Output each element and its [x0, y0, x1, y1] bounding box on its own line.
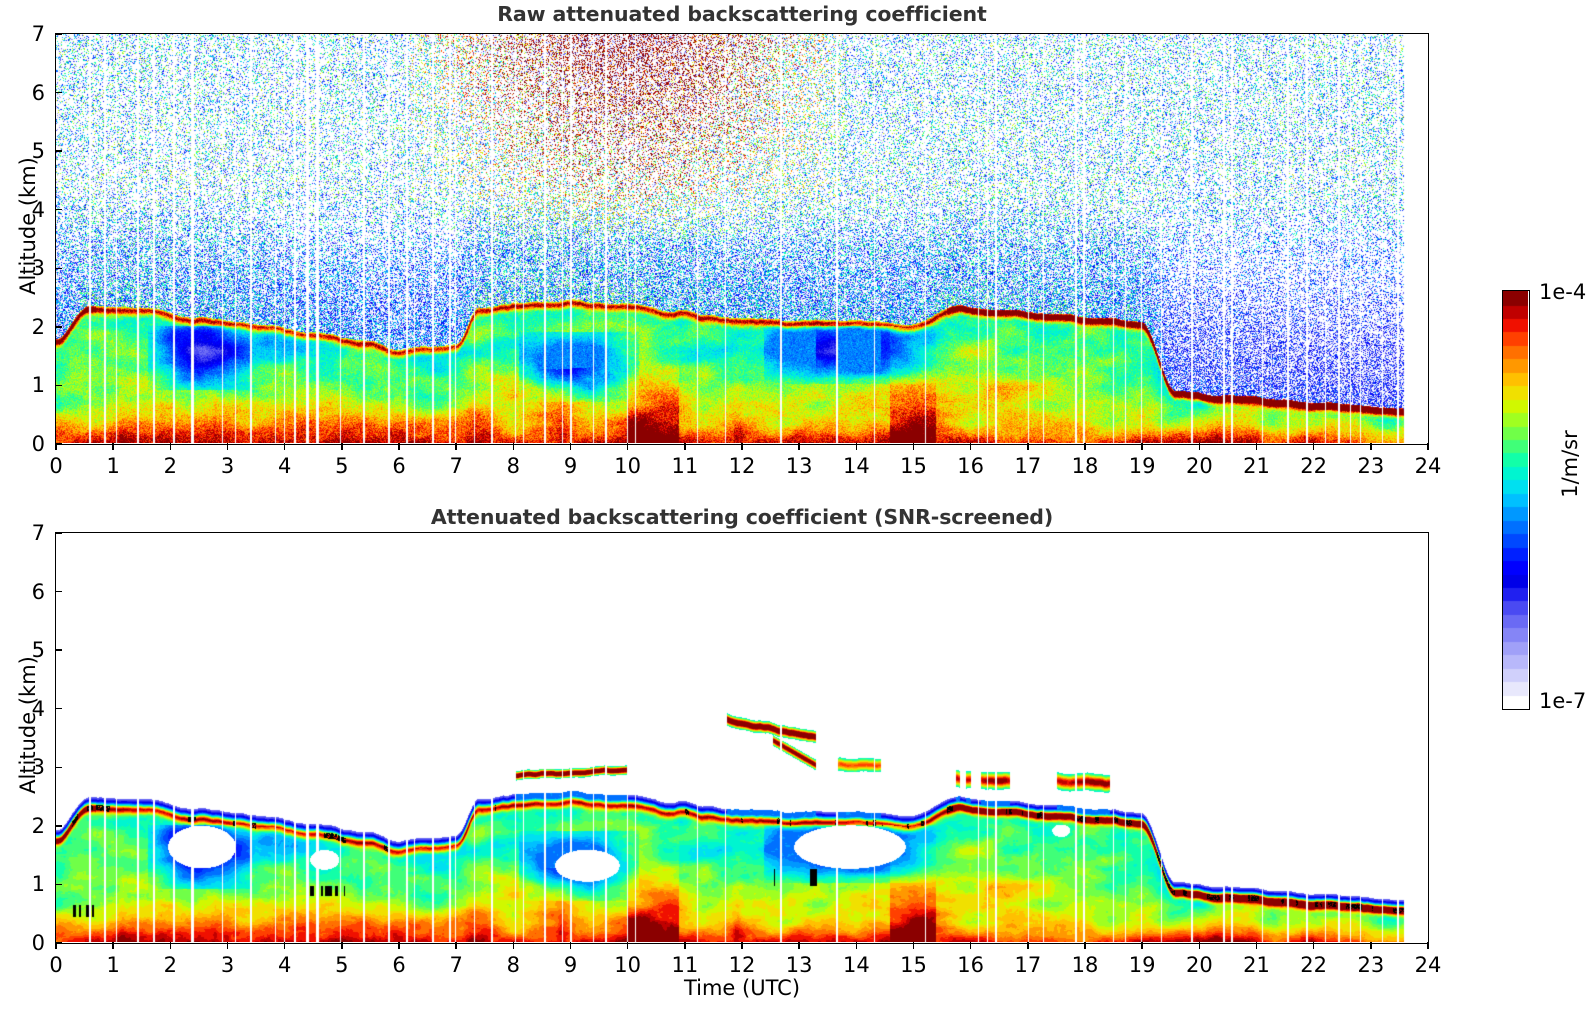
- y-tick: [55, 443, 62, 445]
- x-tick: [284, 942, 286, 949]
- x-tick: [1256, 942, 1258, 949]
- x-tick-label: 14: [843, 454, 870, 478]
- y-tick-label: 6: [13, 580, 45, 604]
- x-tick-label: 6: [392, 953, 405, 977]
- x-tick-label: 24: [1415, 454, 1442, 478]
- x-tick: [856, 443, 858, 450]
- x-tick-label: 0: [49, 953, 62, 977]
- x-tick: [913, 443, 915, 450]
- plot-area-raw: [55, 33, 1429, 445]
- x-tick: [1199, 443, 1201, 450]
- x-tick: [341, 942, 343, 949]
- x-tick-label: 18: [1072, 454, 1099, 478]
- x-tick: [1427, 443, 1429, 450]
- y-tick-label: 1: [13, 373, 45, 397]
- y-tick-label: 2: [13, 814, 45, 838]
- x-tick-label: 20: [1186, 454, 1213, 478]
- y-tick: [55, 884, 62, 886]
- x-tick: [913, 942, 915, 949]
- x-tick-label: 10: [614, 953, 641, 977]
- x-tick-label: 0: [49, 454, 62, 478]
- x-tick: [170, 443, 172, 450]
- x-tick: [741, 942, 743, 949]
- plot-area-screened: [55, 532, 1429, 944]
- x-tick: [513, 443, 515, 450]
- x-tick: [1370, 942, 1372, 949]
- x-tick-label: 16: [957, 953, 984, 977]
- x-tick-label: 12: [729, 454, 756, 478]
- y-tick: [55, 385, 62, 387]
- x-tick-label: 23: [1357, 454, 1384, 478]
- colorbar-canvas: [1503, 291, 1528, 708]
- x-axis-label: Time (UTC): [55, 976, 1429, 1000]
- x-tick-label: 14: [843, 953, 870, 977]
- x-tick: [1027, 443, 1029, 450]
- x-tick-label: 2: [164, 953, 177, 977]
- x-tick: [684, 942, 686, 949]
- colorbar-gradient: [1502, 290, 1530, 710]
- y-tick: [55, 942, 62, 944]
- x-tick-label: 3: [221, 953, 234, 977]
- y-tick: [55, 708, 62, 710]
- x-tick-label: 11: [671, 953, 698, 977]
- heatmap-screened: [56, 533, 1427, 942]
- x-tick-label: 4: [278, 953, 291, 977]
- y-tick: [55, 532, 62, 534]
- x-tick-label: 2: [164, 454, 177, 478]
- x-tick: [684, 443, 686, 450]
- x-tick: [227, 443, 229, 450]
- x-tick: [1027, 942, 1029, 949]
- x-tick: [1370, 443, 1372, 450]
- y-tick: [55, 326, 62, 328]
- x-tick-label: 1: [106, 454, 119, 478]
- x-tick-label: 20: [1186, 953, 1213, 977]
- x-tick-label: 15: [900, 454, 927, 478]
- x-tick: [1313, 443, 1315, 450]
- panel-title-screened: Attenuated backscattering coefficient (S…: [55, 505, 1429, 529]
- y-tick: [55, 150, 62, 152]
- x-tick: [455, 942, 457, 949]
- x-tick-label: 7: [449, 953, 462, 977]
- x-tick-label: 4: [278, 454, 291, 478]
- colorbar-unit-label: 1/m/sr: [1558, 384, 1582, 544]
- colorbar-max-label: 1e-4: [1539, 280, 1586, 304]
- x-tick-label: 21: [1243, 454, 1270, 478]
- x-tick: [112, 443, 114, 450]
- x-tick-label: 22: [1300, 953, 1327, 977]
- x-tick: [570, 443, 572, 450]
- x-tick: [1256, 443, 1258, 450]
- colorbar-min-label: 1e-7: [1539, 689, 1586, 713]
- x-tick: [570, 942, 572, 949]
- x-tick: [741, 443, 743, 450]
- x-tick: [341, 443, 343, 450]
- x-tick-label: 12: [729, 953, 756, 977]
- x-tick: [798, 443, 800, 450]
- heatmap-raw: [56, 34, 1427, 443]
- x-tick-label: 22: [1300, 454, 1327, 478]
- x-tick-label: 10: [614, 454, 641, 478]
- x-tick: [1141, 443, 1143, 450]
- y-axis-label-raw: Altitude (km): [16, 146, 40, 306]
- x-tick: [1313, 942, 1315, 949]
- y-tick: [55, 209, 62, 211]
- x-tick-label: 8: [507, 454, 520, 478]
- y-tick-label: 1: [13, 872, 45, 896]
- x-tick: [1199, 942, 1201, 949]
- y-tick-label: 0: [13, 432, 45, 456]
- x-tick-label: 11: [671, 454, 698, 478]
- x-tick: [398, 443, 400, 450]
- x-tick-label: 19: [1129, 953, 1156, 977]
- x-tick: [227, 942, 229, 949]
- y-tick: [55, 649, 62, 651]
- x-tick-label: 6: [392, 454, 405, 478]
- x-tick-label: 9: [564, 454, 577, 478]
- y-tick: [55, 33, 62, 35]
- x-tick: [627, 443, 629, 450]
- panel-title-raw: Raw attenuated backscattering coefficien…: [55, 2, 1429, 26]
- x-tick-label: 7: [449, 454, 462, 478]
- x-tick-label: 17: [1014, 454, 1041, 478]
- figure-canvas: Raw attenuated backscattering coefficien…: [0, 0, 1595, 1020]
- x-tick: [970, 443, 972, 450]
- x-tick-label: 13: [786, 953, 813, 977]
- y-tick-label: 0: [13, 931, 45, 955]
- x-tick: [455, 443, 457, 450]
- x-tick-label: 5: [335, 953, 348, 977]
- x-tick-label: 17: [1014, 953, 1041, 977]
- colorbar: [1502, 290, 1530, 710]
- y-tick-label: 7: [13, 22, 45, 46]
- x-tick-label: 13: [786, 454, 813, 478]
- x-tick: [170, 942, 172, 949]
- x-tick-label: 15: [900, 953, 927, 977]
- y-tick-label: 7: [13, 521, 45, 545]
- x-tick: [398, 942, 400, 949]
- y-tick: [55, 268, 62, 270]
- x-tick: [284, 443, 286, 450]
- y-tick: [55, 825, 62, 827]
- x-tick-label: 16: [957, 454, 984, 478]
- x-tick-label: 3: [221, 454, 234, 478]
- y-tick: [55, 92, 62, 94]
- x-tick-label: 1: [106, 953, 119, 977]
- x-tick: [970, 942, 972, 949]
- y-axis-label-screened: Altitude (km): [16, 645, 40, 805]
- x-tick-label: 18: [1072, 953, 1099, 977]
- x-tick-label: 21: [1243, 953, 1270, 977]
- x-tick-label: 8: [507, 953, 520, 977]
- y-tick-label: 6: [13, 81, 45, 105]
- y-tick: [55, 767, 62, 769]
- x-tick: [513, 942, 515, 949]
- y-tick-label: 2: [13, 315, 45, 339]
- x-tick: [112, 942, 114, 949]
- y-tick: [55, 591, 62, 593]
- x-tick: [856, 942, 858, 949]
- x-tick-label: 23: [1357, 953, 1384, 977]
- x-tick-label: 24: [1415, 953, 1442, 977]
- x-tick: [1084, 443, 1086, 450]
- x-tick-label: 5: [335, 454, 348, 478]
- x-tick: [798, 942, 800, 949]
- x-tick: [1141, 942, 1143, 949]
- x-tick: [1084, 942, 1086, 949]
- x-tick-label: 19: [1129, 454, 1156, 478]
- x-tick: [1427, 942, 1429, 949]
- x-tick: [627, 942, 629, 949]
- x-tick-label: 9: [564, 953, 577, 977]
